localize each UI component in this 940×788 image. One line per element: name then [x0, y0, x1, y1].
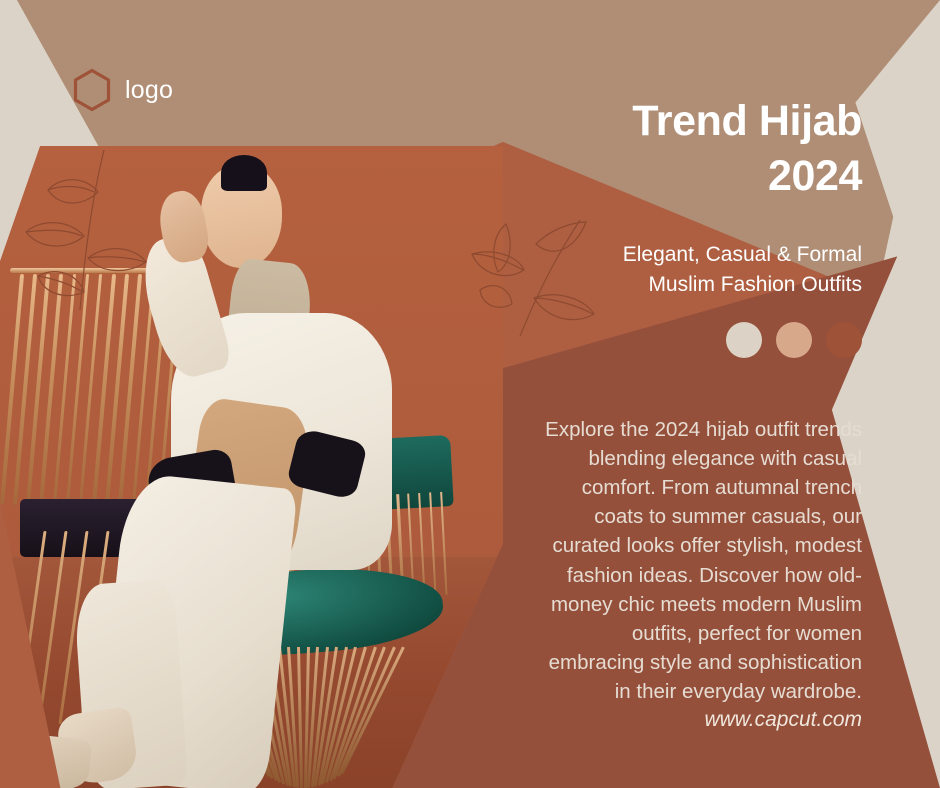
- site-url[interactable]: www.capcut.com: [542, 708, 862, 732]
- subheadline-line-2: Muslim Fashion Outfits: [648, 273, 862, 296]
- brand-logo[interactable]: logo: [72, 68, 173, 112]
- body-copy: Explore the 2024 hijab outfit trends ble…: [542, 415, 862, 706]
- swatch-tan[interactable]: [776, 322, 812, 358]
- subheadline: Elegant, Casual & Formal Muslim Fashion …: [442, 240, 862, 300]
- headline-line-1: Trend Hijab: [632, 97, 862, 145]
- swatch-cream[interactable]: [726, 322, 762, 358]
- headline: Trend Hijab 2024: [442, 94, 862, 204]
- color-swatch-group: [726, 322, 862, 358]
- leaf-branch-icon: [8, 140, 178, 330]
- model-headband: [221, 155, 266, 190]
- swatch-rust[interactable]: [826, 322, 862, 358]
- logo-text: logo: [125, 76, 173, 105]
- headline-line-2: 2024: [442, 149, 862, 204]
- subheadline-line-1: Elegant, Casual & Formal: [623, 243, 862, 266]
- hexagon-outline-icon: [72, 68, 112, 112]
- poster-canvas: logo Trend Hijab 2024 Elegant, Casual & …: [0, 0, 940, 788]
